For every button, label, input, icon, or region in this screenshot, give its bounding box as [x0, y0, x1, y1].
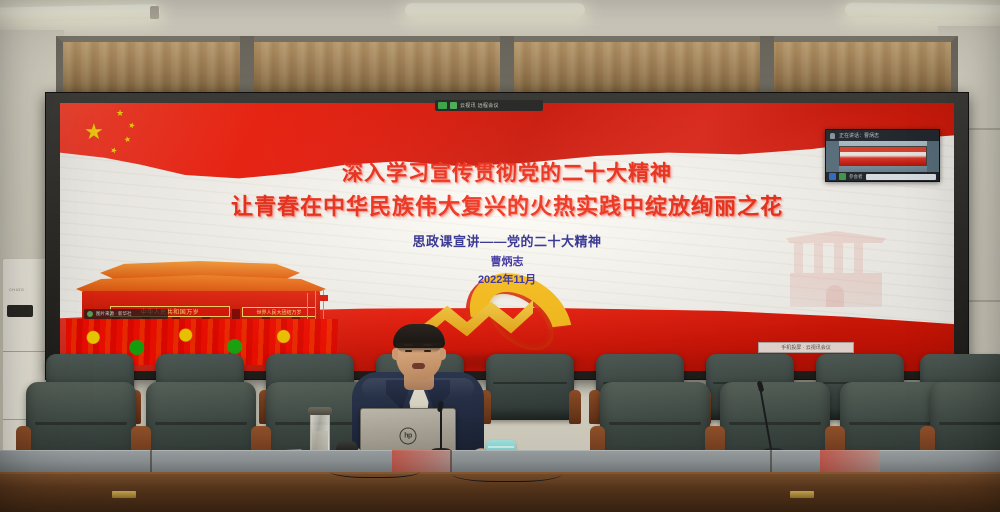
- pip-toolbar[interactable]: 参会者: [826, 172, 939, 181]
- pip-status-bar: 正在讲话：曹炳志: [826, 130, 939, 141]
- table-microphone: [772, 378, 773, 454]
- presenter-eye: [405, 350, 412, 353]
- pip-remote-screen: [839, 146, 927, 166]
- flag-pole: [323, 289, 324, 319]
- flag-pole: [315, 291, 316, 319]
- slide-title-line-2: 让青春在中华民族伟大复兴的火热实践中绽放绚丽之花: [60, 189, 954, 221]
- chair-armrest: [569, 390, 581, 424]
- presenter-microphone: [440, 402, 441, 454]
- slide-caption-bar: 手机投屏 · 云视讯会议: [758, 342, 854, 353]
- slide-date: 2022年11月: [60, 271, 954, 287]
- panel-divider: [760, 36, 774, 94]
- hp-logo-icon: hp: [400, 428, 417, 445]
- microphone-gooseneck: [440, 409, 442, 449]
- status-indicator-icon: [450, 102, 457, 109]
- participants-icon[interactable]: [829, 173, 836, 180]
- screen-label-text: 云视讯 远程会议: [460, 102, 499, 109]
- ceiling-light: [405, 3, 585, 17]
- presentation-slide: ★ ★ ★ ★ ★: [60, 103, 954, 371]
- projection-screen-frame: ★ ★ ★ ★ ★: [45, 92, 969, 380]
- display-panel: ★ ★ ★ ★ ★: [60, 103, 954, 371]
- flag-star-small: ★: [116, 109, 124, 118]
- slide-subtitle: 思政课宣讲——党的二十大精神: [60, 231, 954, 250]
- presenter-eyebrow: [423, 344, 432, 346]
- pip-status-text: 正在讲话：曹炳志: [839, 132, 879, 139]
- presenter-hair: [393, 324, 445, 348]
- ac-brand-label: CHIGO: [9, 287, 24, 292]
- tag-indicator-icon: [87, 311, 93, 317]
- video-conference-pip[interactable]: 正在讲话：曹炳志 参会者: [825, 129, 940, 182]
- pip-footer-text: 参会者: [849, 174, 863, 180]
- flag-star-small: ★: [123, 135, 131, 144]
- cable: [330, 462, 420, 478]
- light-end-cap: [150, 6, 159, 19]
- tiananmen-banner-right: 世界人民大团结万岁: [242, 307, 316, 317]
- panel-divider: [240, 36, 254, 94]
- microphone-icon: [830, 133, 835, 139]
- cable: [452, 462, 562, 482]
- mask-pleat: [488, 446, 514, 448]
- table-nameplate: [790, 491, 814, 498]
- panel-divider: [500, 36, 514, 94]
- ac-vent: [7, 305, 33, 317]
- presenter-mouth: [412, 363, 425, 369]
- cup-lid: [308, 407, 332, 415]
- pip-room-left: [826, 141, 839, 172]
- lecture-hall-scene: CHIGO ★ ★ ★ ★ ★: [0, 0, 1000, 512]
- presenter-eyebrow: [404, 344, 413, 346]
- ac-panel-line: [3, 351, 51, 352]
- slide-presenter-name: 曹炳志: [60, 253, 954, 269]
- pip-room-right: [927, 141, 939, 172]
- presenter-ear: [440, 348, 446, 360]
- chair-back-row: [486, 354, 574, 420]
- presenter-eye: [424, 350, 431, 353]
- flag-star-large: ★: [84, 121, 104, 143]
- screen-label-tag: 云视讯 远程会议: [435, 100, 543, 111]
- tag-text: 图片来源 · 新华社: [96, 311, 132, 317]
- presenter-ear: [392, 348, 398, 360]
- pip-screen-banner: [840, 147, 926, 152]
- pip-input-field[interactable]: [866, 174, 937, 180]
- flag-pole: [307, 293, 308, 319]
- small-red-flag: [319, 295, 328, 301]
- image-source-tag: 图片来源 · 新华社: [84, 309, 168, 319]
- pip-video-feed: [826, 141, 939, 172]
- watermark-door: [826, 285, 844, 307]
- screen-share-icon[interactable]: [839, 173, 846, 180]
- status-indicator-icon: [438, 102, 447, 109]
- slide-title-line-1: 深入学习宣传贯彻党的二十大精神: [60, 157, 954, 187]
- table-nameplate: [112, 491, 136, 498]
